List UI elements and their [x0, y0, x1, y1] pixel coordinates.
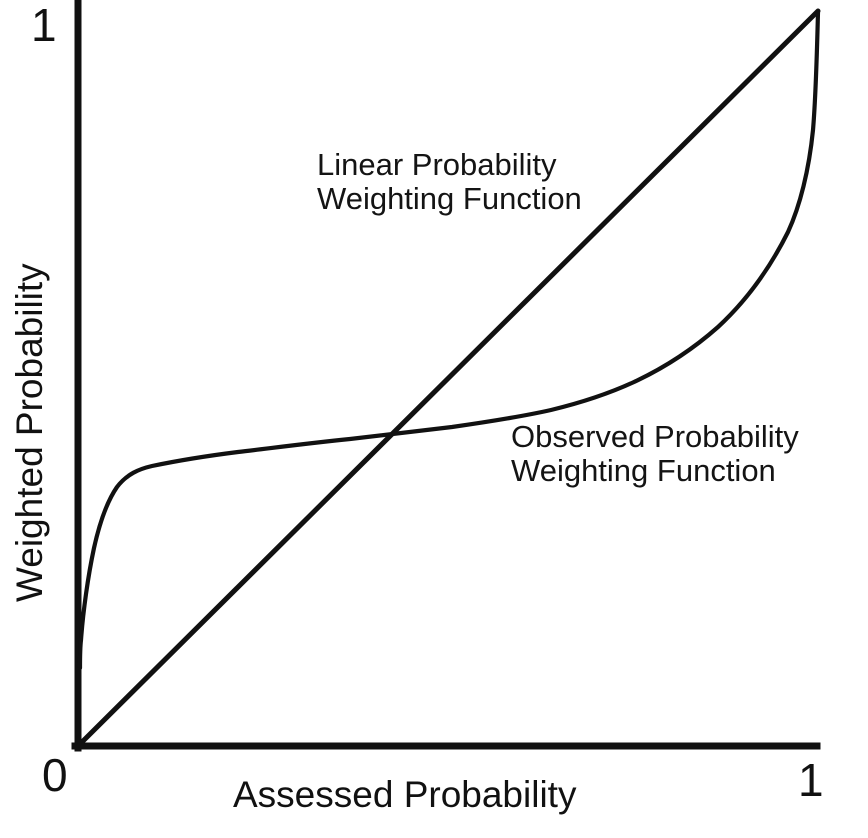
observed-weighting-annotation: Observed Probability Weighting Function	[511, 420, 799, 488]
observed-weighting-curve	[80, 12, 818, 668]
y-axis-tick-label-1: 1	[31, 2, 57, 48]
linear-annotation-line-2: Weighting Function	[317, 182, 582, 216]
y-axis-title: Weighted Probability	[10, 263, 50, 602]
origin-tick-label-0: 0	[42, 752, 68, 798]
x-axis-tick-label-1: 1	[798, 757, 824, 803]
observed-annotation-line-1: Observed Probability	[511, 419, 799, 454]
x-axis-title: Assessed Probability	[233, 775, 576, 815]
observed-annotation-line-2: Weighting Function	[511, 454, 799, 488]
probability-weighting-figure: 1 0 1 Assessed Probability Weighted Prob…	[0, 0, 868, 838]
linear-weighting-annotation: Linear Probability Weighting Function	[317, 148, 582, 216]
linear-weighting-line	[79, 11, 818, 745]
linear-annotation-line-1: Linear Probability	[317, 147, 557, 182]
